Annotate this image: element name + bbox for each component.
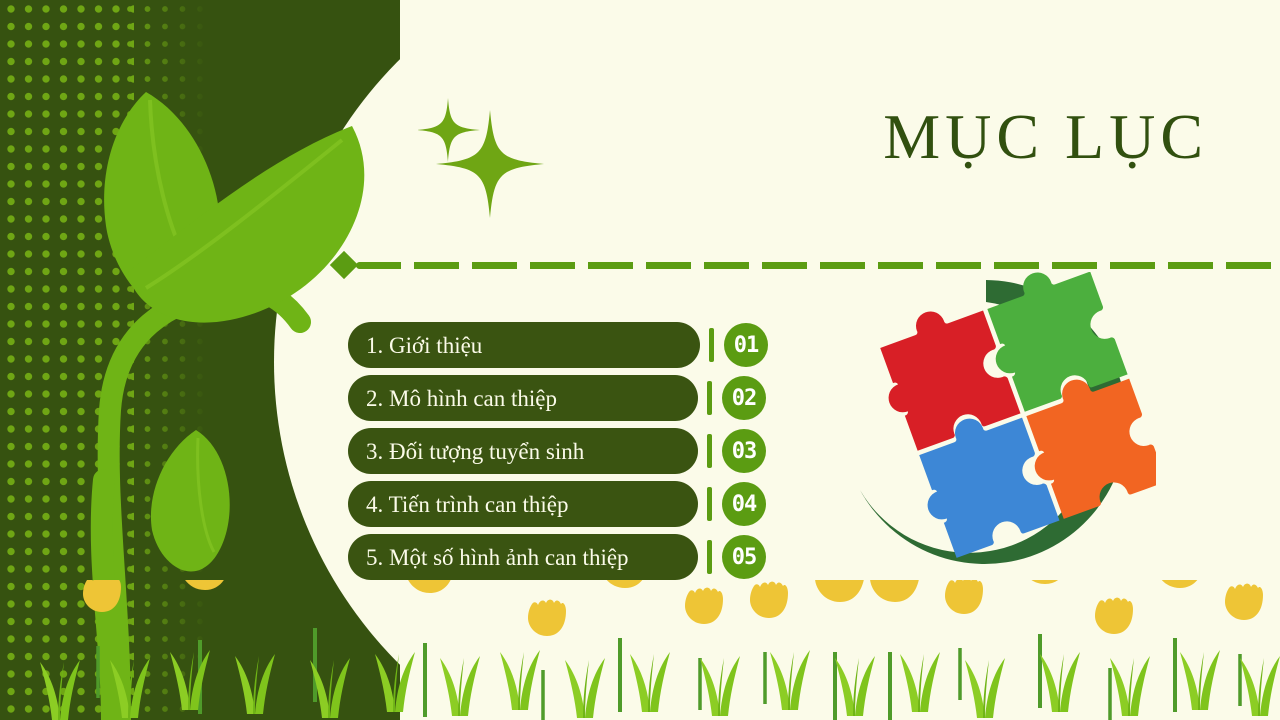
toc-item-label[interactable]: 4. Tiến trình can thiệp xyxy=(348,481,698,527)
list-item[interactable]: 4. Tiến trình can thiệp 04 xyxy=(348,481,768,527)
grass-icon xyxy=(965,658,1005,718)
tulip-field xyxy=(0,580,1280,720)
toc-item-number: 03 xyxy=(722,429,766,473)
tulip-icon xyxy=(1225,584,1263,706)
tick-bar-icon xyxy=(707,381,712,415)
list-item[interactable]: 1. Giới thiệu 01 xyxy=(348,322,768,368)
tulip-icon xyxy=(1020,580,1070,708)
tulip-icon xyxy=(685,588,723,710)
tick-bar-icon xyxy=(707,487,712,521)
grass-icon xyxy=(1110,656,1150,716)
tulip-icon xyxy=(945,580,983,700)
list-item[interactable]: 3. Đối tượng tuyển sinh 03 xyxy=(348,428,768,474)
puzzle-circle-logo xyxy=(836,272,1156,572)
grass-icon xyxy=(40,660,80,720)
grass-icon xyxy=(235,654,275,714)
toc-item-number: 04 xyxy=(722,482,766,526)
grass-icon xyxy=(1180,650,1220,710)
grass-icon xyxy=(1240,656,1280,716)
grass-icon xyxy=(835,656,875,716)
grass-icon xyxy=(700,656,740,716)
list-item[interactable]: 5. Một số hình ảnh can thiệp 05 xyxy=(348,534,768,580)
diamond-icon xyxy=(330,251,358,279)
toc-item-label[interactable]: 3. Đối tượng tuyển sinh xyxy=(348,428,698,474)
toc-item-label[interactable]: 5. Một số hình ảnh can thiệp xyxy=(348,534,698,580)
grass-icon xyxy=(500,650,540,710)
leaf-icon xyxy=(151,430,230,571)
grass-icon xyxy=(565,658,605,718)
grass-icon xyxy=(110,658,150,718)
toc-item-label[interactable]: 2. Mô hình can thiệp xyxy=(348,375,698,421)
grass-icon xyxy=(900,652,940,712)
dashed-line xyxy=(356,262,1280,269)
toc-item-number: 05 xyxy=(722,535,766,579)
sparkle-icon xyxy=(418,92,548,222)
toc-item-label[interactable]: 1. Giới thiệu xyxy=(348,322,700,368)
grass-icon xyxy=(440,656,480,716)
grass-icon xyxy=(1040,652,1080,712)
tulip-icon xyxy=(1155,580,1205,712)
list-item[interactable]: 2. Mô hình can thiệp 02 xyxy=(348,375,768,421)
toc-item-number: 02 xyxy=(722,376,766,420)
tulip-icon xyxy=(405,580,455,717)
grass-icon xyxy=(630,652,670,712)
toc-list: 1. Giới thiệu 01 2. Mô hình can thiệp 02… xyxy=(348,322,768,587)
tick-bar-icon xyxy=(707,540,712,574)
grass-icon xyxy=(770,650,810,710)
tick-bar-icon xyxy=(707,434,712,468)
slide-canvas: MỤC LỤC 1. Giới thiệu 01 2. Mô hình can … xyxy=(0,0,1280,720)
page-title: MỤC LỤC xyxy=(883,100,1208,174)
tick-bar-icon xyxy=(709,328,714,362)
grass-icon xyxy=(170,650,210,710)
toc-item-number: 01 xyxy=(724,323,768,367)
grass-icon xyxy=(375,652,415,712)
